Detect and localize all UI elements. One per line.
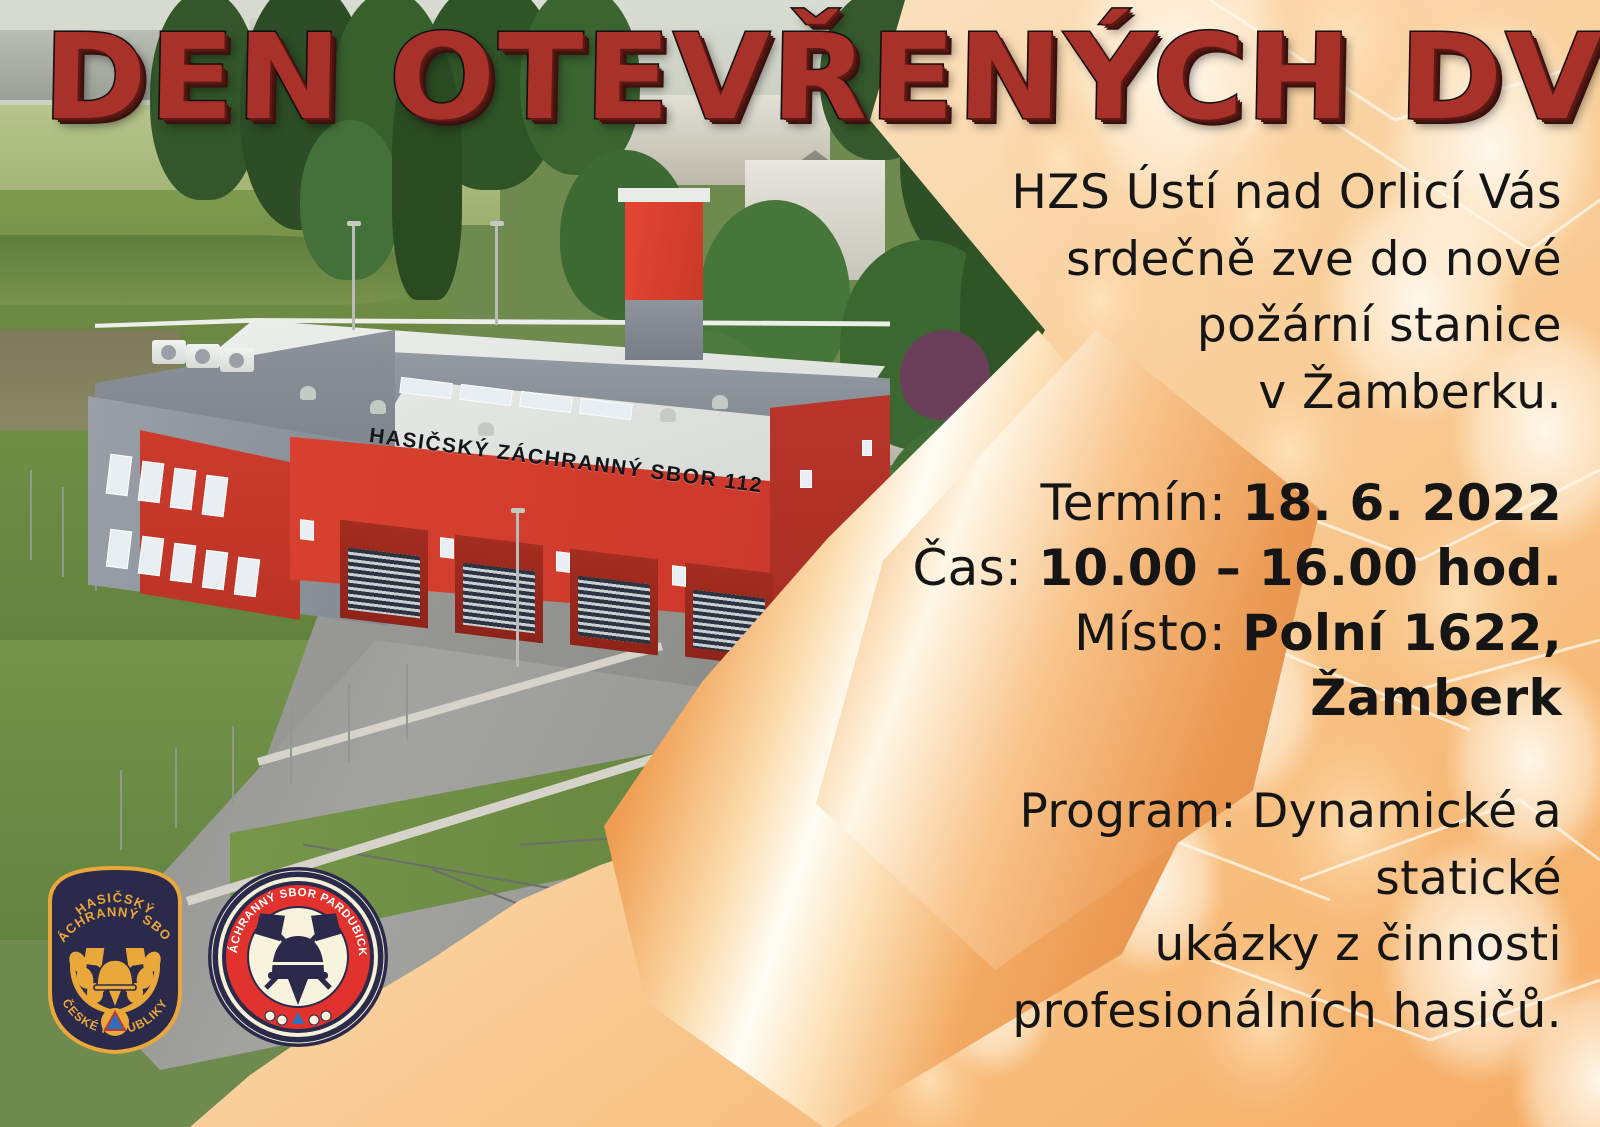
date-value: 18. 6. 2022	[1242, 474, 1562, 532]
place-label: Místo:	[1074, 604, 1226, 662]
fact-date: Termín: 18. 6. 2022	[862, 471, 1562, 536]
place-value: Polní 1622, Žamberk	[1242, 604, 1562, 727]
lead-line-3: požární stanice	[862, 293, 1562, 360]
program-line-1: Program: Dynamické a statické	[862, 779, 1562, 912]
date-label: Termín:	[1040, 474, 1226, 532]
hzs-cr-shield-emblem: HASIČSKÝ ZÁCHRANNÝ SBOR ČESKÉ REPUBLIKY	[40, 862, 190, 1057]
time-label: Čas:	[912, 539, 1022, 597]
hzs-pardubicky-kraj-seal: HASIČSKÝ ZÁCHRANNÝ SBOR PARDUBICKÉHO KRA…	[206, 862, 391, 1052]
emblem-group: HASIČSKÝ ZÁCHRANNÝ SBOR ČESKÉ REPUBLIKY	[40, 862, 391, 1057]
lead-line-4: v Žamberku.	[862, 360, 1562, 427]
program-line-2: ukázky z činnosti	[862, 912, 1562, 979]
program-line-3: profesionálních hasičů.	[862, 979, 1562, 1046]
event-facts: Termín: 18. 6. 2022 Čas: 10.00 – 16.00 h…	[862, 471, 1562, 731]
time-value: 10.00 – 16.00 hod.	[1038, 539, 1562, 597]
lead-paragraph: HZS Ústí nad Orlicí Vás srdečně zve do n…	[862, 160, 1562, 427]
fact-time: Čas: 10.00 – 16.00 hod.	[862, 536, 1562, 601]
lead-line-2: srdečně zve do nové	[862, 227, 1562, 294]
fact-place: Místo: Polní 1622, Žamberk	[862, 601, 1562, 731]
program-paragraph: Program: Dynamické a statické ukázky z č…	[862, 779, 1562, 1046]
page-title: DEN OTEVŘENÝCH DVEŘÍ	[42, 18, 1600, 136]
lead-line-1: HZS Ústí nad Orlicí Vás	[862, 160, 1562, 227]
poster-root: HASIČSKÝ ZÁCHRANNÝ SBOR 112	[0, 0, 1600, 1127]
poster-copy: HZS Ústí nad Orlicí Vás srdečně zve do n…	[862, 160, 1562, 1127]
